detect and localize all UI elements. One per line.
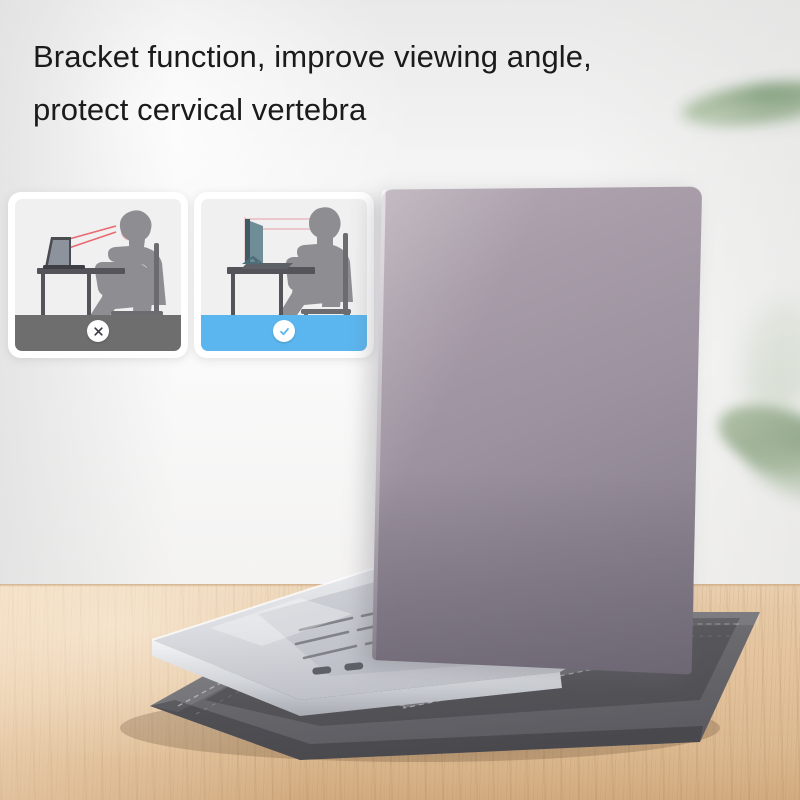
- product-marketing-image: Bracket function, improve viewing angle,…: [0, 0, 800, 800]
- laptop-lid: [372, 187, 702, 675]
- lid-sheen: [372, 187, 702, 675]
